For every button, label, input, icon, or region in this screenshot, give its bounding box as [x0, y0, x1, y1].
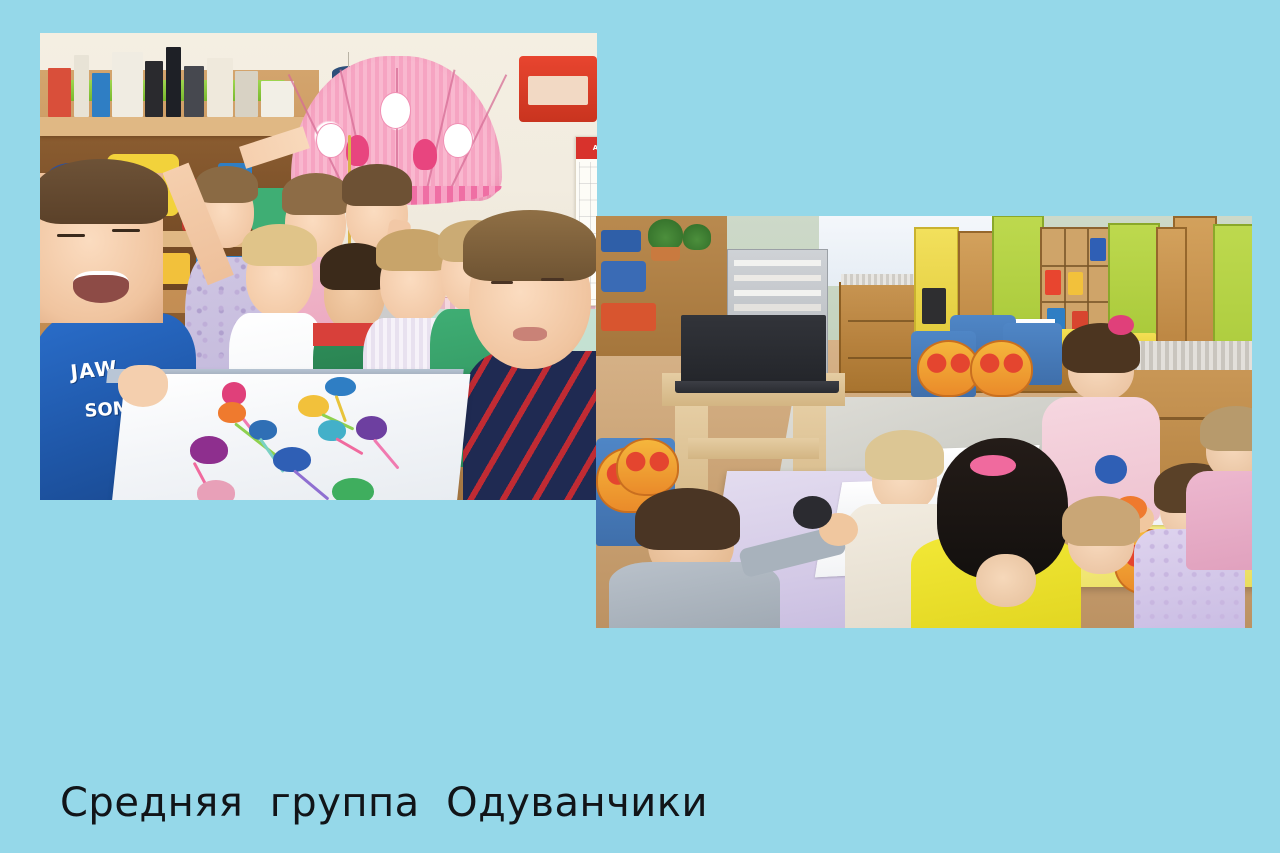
flower-pot-icon [651, 247, 680, 261]
hello-kitty-icon [380, 92, 412, 129]
clay-stick [335, 437, 363, 455]
child-hand-on-table [118, 365, 168, 407]
clay-figure [356, 416, 387, 440]
clay-figure [197, 480, 235, 500]
blue-bin-icon [601, 261, 646, 292]
laptop-base [675, 381, 839, 393]
clay-figure [273, 447, 311, 472]
slide-caption: Средняя группа Одуванчики Занятие лепка … [60, 648, 1160, 853]
clay-figure [190, 436, 228, 464]
strawberry-icon [413, 139, 436, 170]
toy-oven-door [922, 288, 947, 324]
child-eye [541, 278, 563, 281]
clay-figures-group [118, 374, 463, 500]
clay-figure [318, 420, 346, 441]
children-at-tables-photo[interactable] [596, 216, 1252, 628]
cupboard-top-clutter [46, 38, 302, 117]
clay-figure [332, 478, 373, 500]
desk-shelf [688, 438, 819, 459]
toy-in-cubby-icon [1068, 272, 1083, 295]
clay-ball-dark [793, 496, 832, 529]
child-eye [57, 234, 85, 237]
paper-tray [734, 260, 821, 266]
child-hair [282, 173, 350, 215]
clay-stick [293, 470, 329, 500]
child-hair-blonde [242, 224, 317, 266]
photo-two-scene [596, 216, 1252, 628]
child-hair-blonde [1062, 496, 1141, 545]
plant-icon [648, 219, 682, 250]
clay-figure [218, 402, 246, 423]
laptop-screen [681, 315, 825, 381]
blue-bin-icon [601, 230, 640, 252]
child-hair [195, 166, 258, 203]
clay-figure [249, 420, 277, 440]
group-photo-with-umbrella[interactable]: АЗБУКА [40, 33, 597, 500]
paper-tray [734, 275, 821, 281]
butterfly-decor-icon [970, 340, 1033, 398]
butterfly-decor-icon [616, 438, 679, 496]
toy-in-cubby-icon [1090, 238, 1106, 261]
red-toy-box [519, 56, 597, 121]
child-hair-left-boy [40, 159, 168, 224]
plant-icon [683, 224, 712, 249]
clay-stick [372, 439, 399, 470]
clay-ball-blue [1095, 455, 1128, 484]
child-hair-foreground-boy [463, 210, 597, 280]
child-hair-blonde [865, 430, 944, 479]
paper-tray [734, 304, 821, 310]
clay-figure [325, 377, 356, 397]
red-toy-box-panel [528, 76, 587, 105]
photo-one-scene: АЗБУКА [40, 33, 597, 500]
child-eye [112, 229, 140, 232]
hello-kitty-icon [316, 123, 346, 158]
paper-tray [734, 290, 821, 296]
locker-wood [1156, 227, 1187, 345]
orange-crate-icon [601, 303, 656, 331]
child-body-striped-navy [463, 351, 597, 500]
toy-in-cubby-icon [1045, 270, 1061, 295]
child-mouth [513, 327, 546, 341]
hair-tie-pink-icon [970, 455, 1016, 476]
clay-stick [334, 395, 346, 422]
child-hair [342, 164, 411, 206]
caption-line-1: Средняя группа Одуванчики [60, 772, 1160, 834]
child-body-pink-dress [1186, 471, 1252, 570]
child-eye [491, 281, 513, 284]
alphabet-poster-title: АЗБУКА [576, 137, 597, 159]
cupboard-top-shelf-edge [40, 117, 319, 136]
child-head [976, 554, 1035, 608]
slide-canvas: АЗБУКА [0, 0, 1280, 853]
hello-kitty-icon [443, 123, 473, 158]
child-hair-dark [635, 488, 740, 550]
